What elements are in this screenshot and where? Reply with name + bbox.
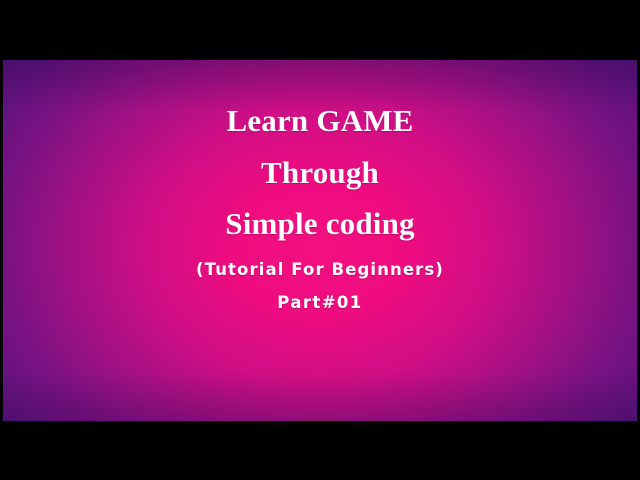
letterbox-border-left xyxy=(0,0,3,480)
video-frame: Learn GAME Through Simple coding (Tutori… xyxy=(0,0,640,480)
subtitle-part-number: Part#01 xyxy=(3,295,637,312)
headline-line-1: Learn GAME xyxy=(3,105,637,136)
headline-line-3: Simple coding xyxy=(3,208,637,239)
title-slide: Learn GAME Through Simple coding (Tutori… xyxy=(3,60,637,421)
letterbox-bar-bottom xyxy=(0,421,640,480)
headline-line-2: Through xyxy=(3,157,637,188)
subtitle-tutorial-for-beginners: (Tutorial For Beginners) xyxy=(3,262,637,279)
letterbox-bar-top xyxy=(0,0,640,60)
slide-content: Learn GAME Through Simple coding (Tutori… xyxy=(3,60,637,421)
